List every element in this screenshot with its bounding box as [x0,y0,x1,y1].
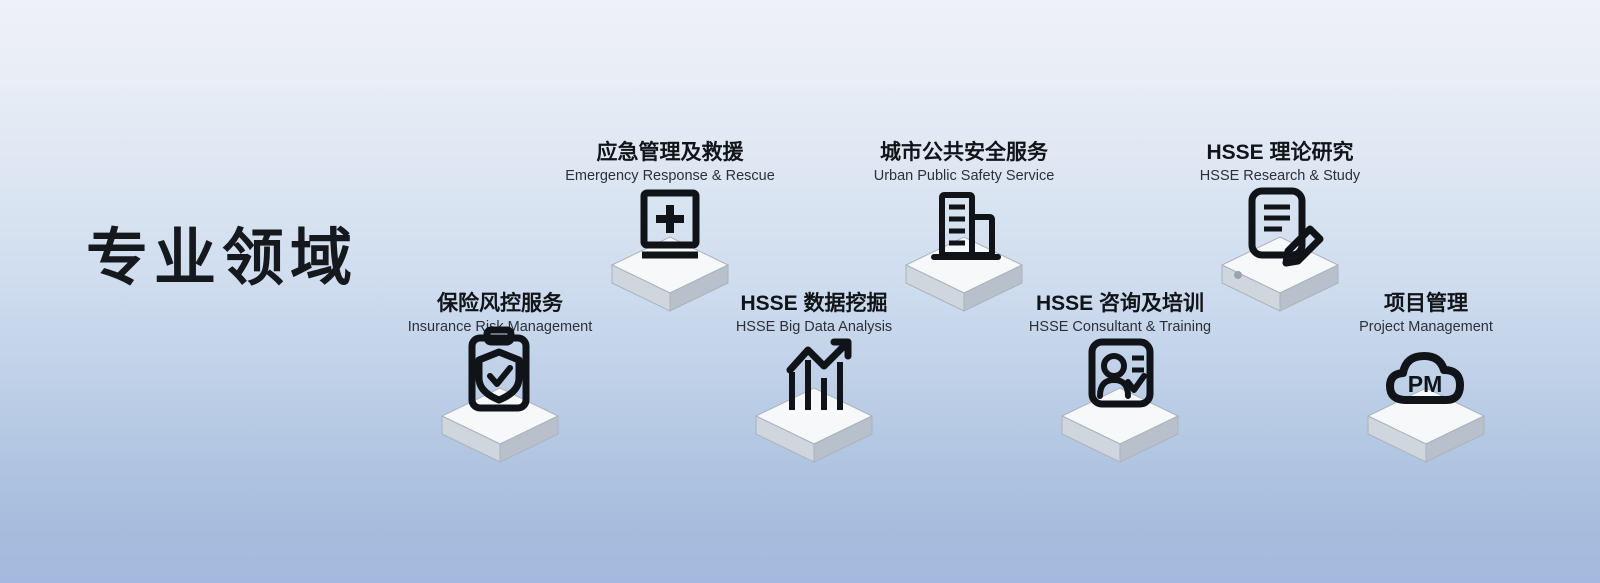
domain-item-hsse-consultant[interactable]: HSSE 咨询及培训 HSSE Consultant & Training [990,293,1250,468]
domain-label-cn: 应急管理及救援 [540,142,800,164]
isometric-slab [1062,388,1178,462]
domain-label-cn: HSSE 咨询及培训 [990,293,1250,315]
domain-label-en: HSSE Big Data Analysis [684,320,944,336]
page-title: 专业领域 [86,228,358,290]
domain-label-en: Urban Public Safety Service [834,169,1094,185]
domain-item-urban-public-safety[interactable]: 城市公共安全服务 Urban Public Safety Service [834,142,1094,317]
domain-icon-tile: PM [1296,348,1556,468]
domain-label-cn: 项目管理 [1296,293,1556,315]
document-pencil-icon [1252,191,1320,263]
first-aid-plus-icon [642,193,698,255]
domain-label-cn: 保险风控服务 [370,293,630,315]
domain-item-emergency-response[interactable]: 应急管理及救援 Emergency Response & Rescue [540,142,800,317]
domain-label-cn: 城市公共安全服务 [834,142,1094,164]
cloud-pm-label: PM [1408,371,1443,397]
domain-label-en: HSSE Consultant & Training [990,320,1250,336]
domain-label-en: Emergency Response & Rescue [540,169,800,185]
domain-label-cn: HSSE 理论研究 [1150,142,1410,164]
domain-icon-tile [370,348,630,468]
domain-item-project-management[interactable]: 项目管理 Project Management PM [1296,293,1556,468]
domain-icon-tile [990,348,1250,468]
domain-item-hsse-research[interactable]: HSSE 理论研究 HSSE Research & Study [1150,142,1410,317]
domain-label-en: Project Management [1296,320,1556,336]
domain-label-cn: HSSE 数据挖掘 [684,293,944,315]
cloud-pm-icon: PM [1390,356,1460,400]
domain-label-en: HSSE Research & Study [1150,169,1410,185]
isometric-slab [756,388,872,462]
domain-item-insurance-risk[interactable]: 保险风控服务 Insurance Risk Management [370,293,630,468]
domain-icon-tile [684,348,944,468]
domain-item-hsse-big-data[interactable]: HSSE 数据挖掘 HSSE Big Data Analysis [684,293,944,468]
professional-domains-banner: 专业领域 应急管理及救援 Emergency Response & Rescue [0,0,1600,583]
